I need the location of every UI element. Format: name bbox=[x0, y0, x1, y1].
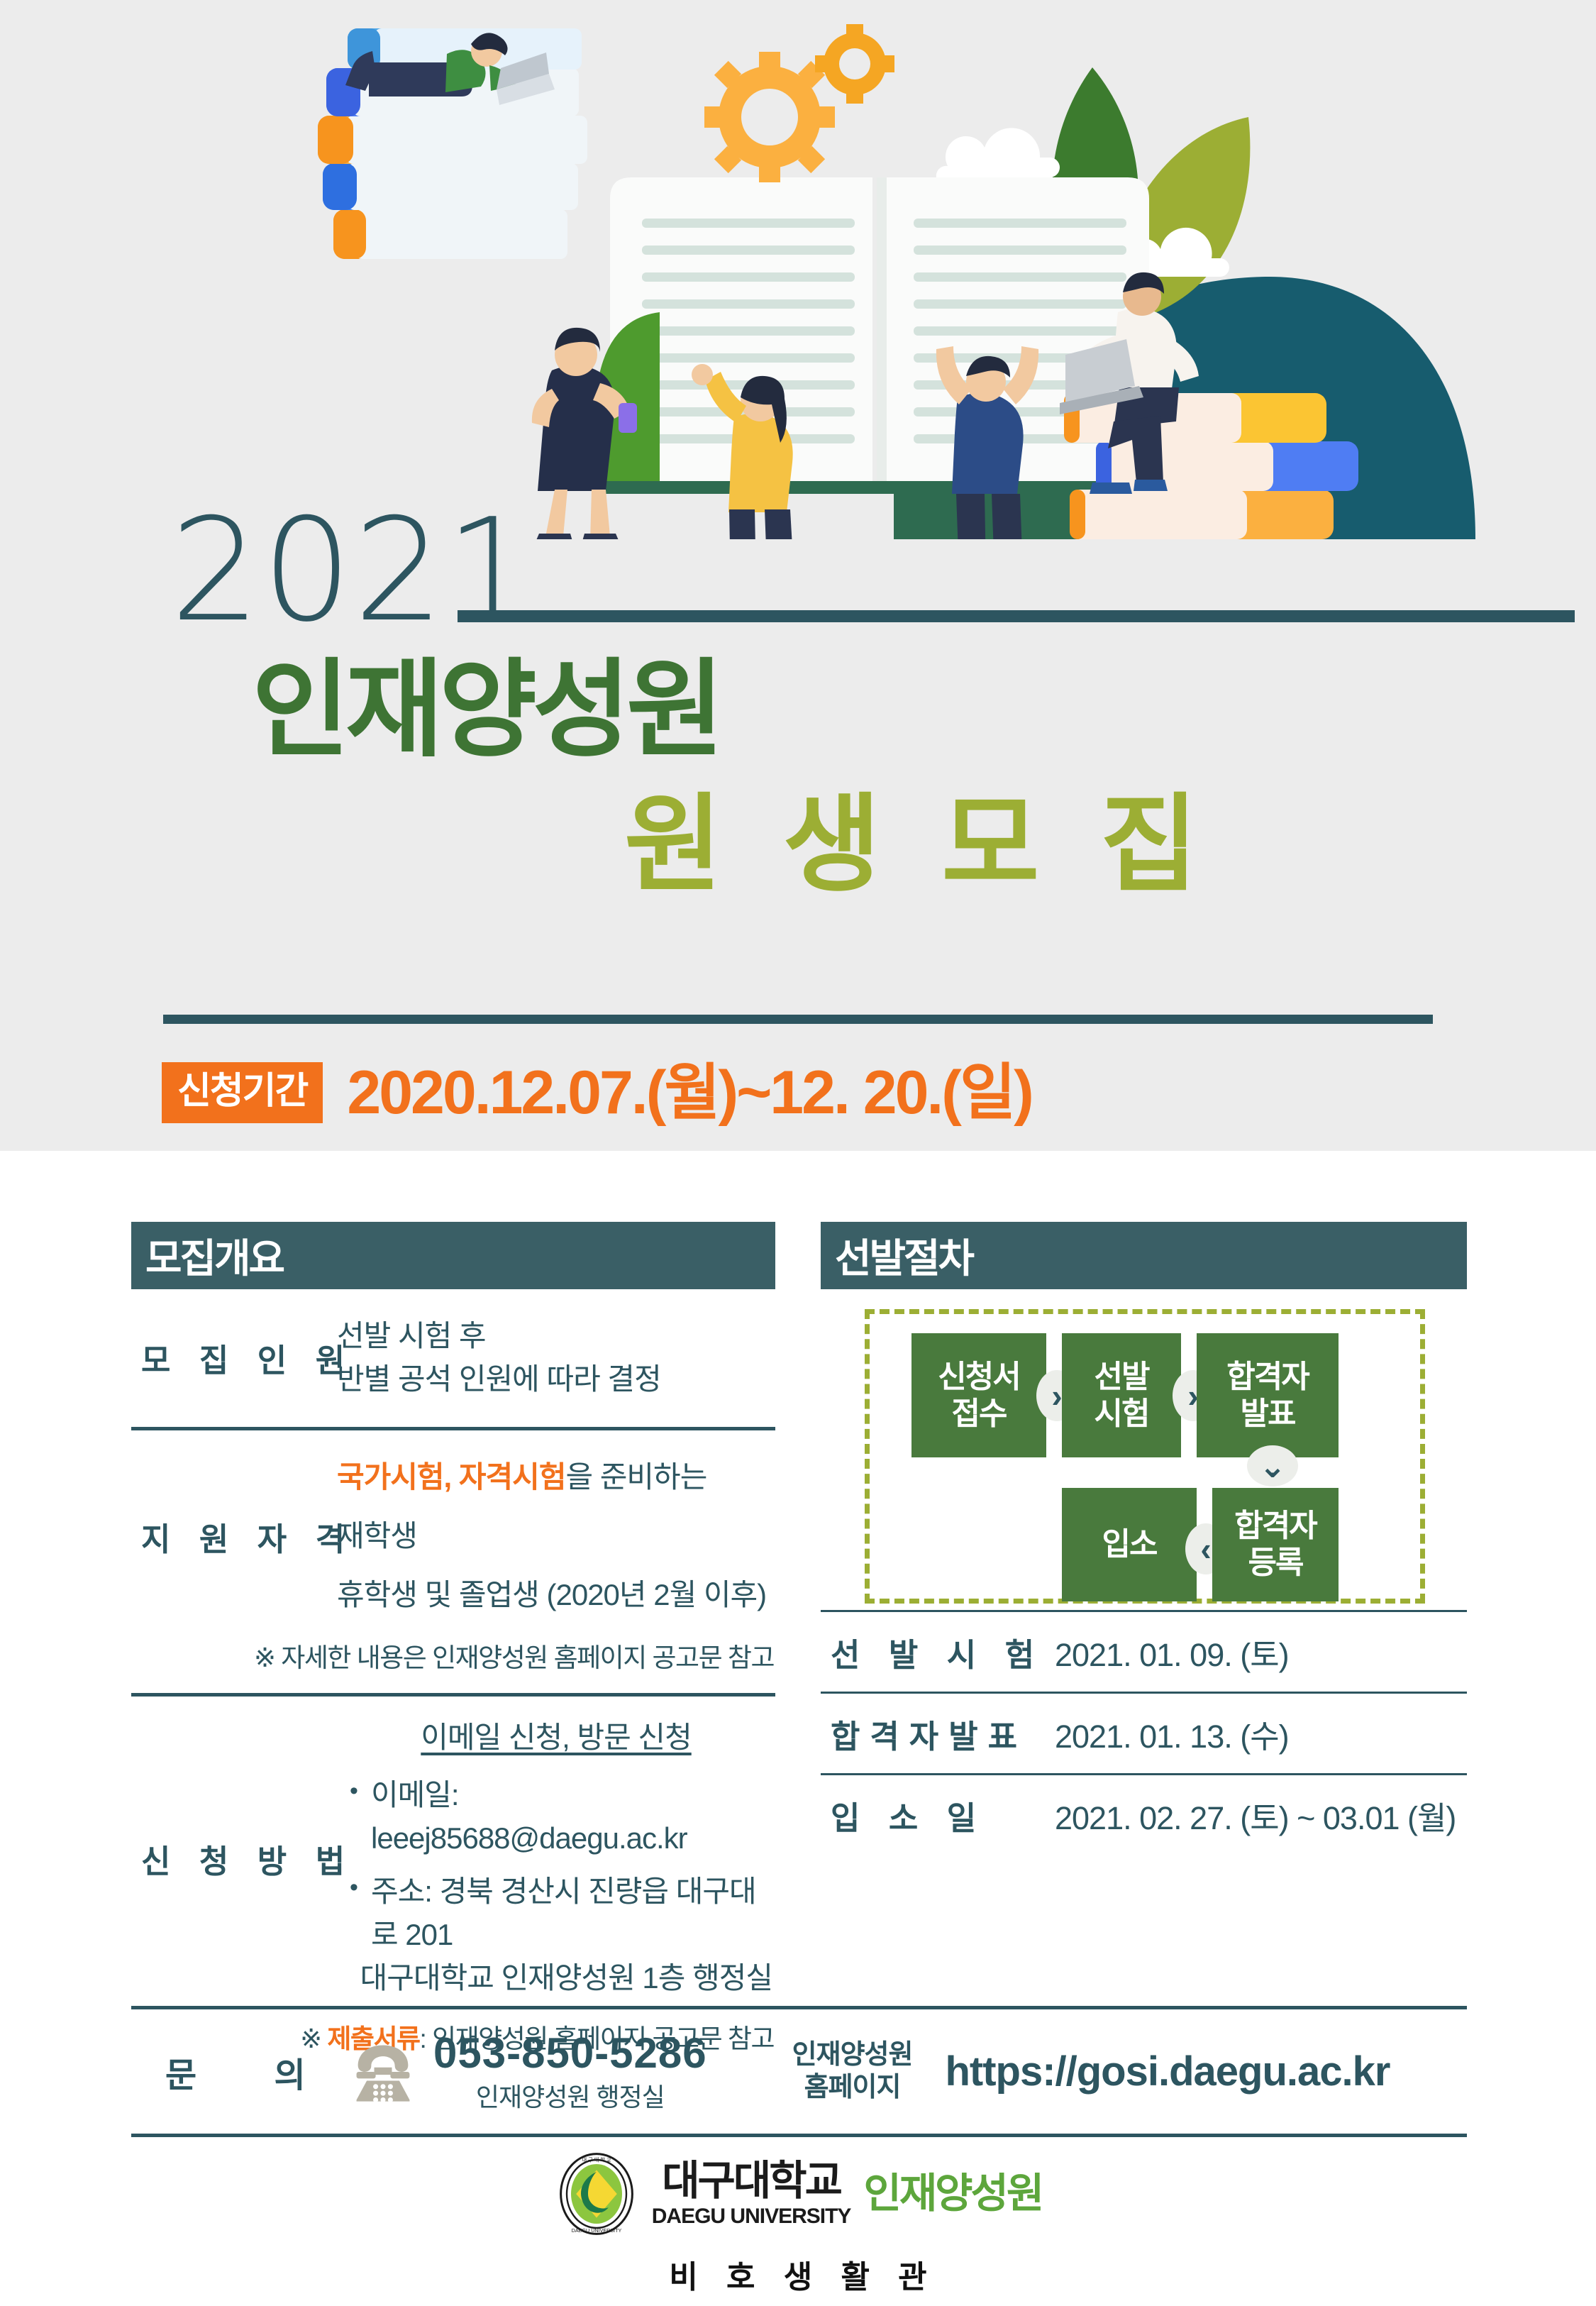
selection-process-panel: 선발절차 신청서 접수 › 선발 시험 › 합격자 발표 ⌄ 입소 ‹ 합격자 … bbox=[821, 1222, 1467, 1855]
eligibility-note: ※ 자세한 내용은 인재양성원 홈페이지 공고문 참고 bbox=[131, 1622, 775, 1693]
footer-logo-row: 대 구 대 학 교 DAEGU UNIVERSITY 대구대학교 DAEGU U… bbox=[554, 2151, 1043, 2236]
poster-title-line2: 원 생 모 집 bbox=[624, 791, 1214, 898]
eligibility-exam-types: 국가시험, 자격시험 bbox=[337, 1460, 565, 1494]
schedule-row-exam: 선 발 시 험 2021. 01. 09. (토) bbox=[821, 1612, 1467, 1692]
schedule-row-announcement: 합격자발표 2021. 01. 13. (수) bbox=[821, 1694, 1467, 1773]
apply-email-text: 이메일: leeej85688@daegu.ac.kr bbox=[371, 1774, 775, 1860]
eligibility-line-enrolled: 재학생 bbox=[337, 1515, 775, 1558]
row-how-to-apply: 신 청 방 법 이메일 신청, 방문 신청 • 이메일: leeej85688@… bbox=[131, 1697, 775, 2004]
flow-box-result-announcement: 합격자 발표 bbox=[1197, 1333, 1339, 1457]
flow-arrow-down-icon: ⌄ bbox=[1247, 1445, 1298, 1486]
apply-address-cont: 대구대학교 인재양성원 1층 행정실 bbox=[337, 1957, 775, 2000]
value-recruitment-count: 선발 시험 후 반별 공석 인원에 따라 결정 bbox=[337, 1315, 775, 1401]
homepage-label-line1: 인재양성원 bbox=[792, 2039, 913, 2072]
contact-section: 문 의 053-850-5286 인재양성원 행정실 bbox=[131, 2006, 1467, 2137]
eligibility-line-leave-grad: 휴학생 및 졸업생 (2020년 2월 이후) bbox=[337, 1574, 775, 1617]
footer-univ-kr: 대구대학교 bbox=[652, 2161, 851, 2202]
flow-box-application-receipt: 신청서 접수 bbox=[911, 1333, 1046, 1457]
flow-box-5-label: 합격자 등록 bbox=[1234, 1508, 1316, 1582]
year-heading-row: 2021 bbox=[170, 522, 1447, 642]
application-period-dates: 2020.12.07.(월)~12. 20.(일) bbox=[347, 1062, 1031, 1123]
flow-box-registration: 합격자 등록 bbox=[1212, 1488, 1339, 1601]
apply-methods-subtitle: 이메일 신청, 방문 신청 bbox=[337, 1716, 775, 1760]
selection-flowchart: 신청서 접수 › 선발 시험 › 합격자 발표 ⌄ 입소 ‹ 합격자 등록 bbox=[821, 1305, 1467, 1610]
footer-univ-block: 대구대학교 DAEGU UNIVERSITY bbox=[652, 2161, 851, 2227]
recruitment-count-line2: 반별 공석 인원에 따라 결정 bbox=[337, 1358, 775, 1401]
recruitment-overview-panel: 모집개요 모 집 인 원 선발 시험 후 반별 공석 인원에 따라 결정 지 원… bbox=[131, 1222, 775, 2074]
flow-box-1-label: 신청서 접수 bbox=[938, 1359, 1019, 1433]
schedule-row-admission: 입 소 일 2021. 02. 27. (토) ~ 03.01 (월) bbox=[821, 1775, 1467, 1855]
contact-phone-number: 053-850-5286 bbox=[433, 2029, 707, 2077]
footer-univ-en: DAEGU UNIVERSITY bbox=[652, 2206, 851, 2227]
application-period-badge: 신청기간 bbox=[162, 1062, 323, 1123]
eligibility-highlight-tail: 을 준비하는 bbox=[565, 1460, 706, 1494]
label-recruitment-count: 모 집 인 원 bbox=[131, 1335, 337, 1381]
hero-banner: 2021 인재양성원 원 생 모 집 신청기간 2020.12.07.(월)~1… bbox=[0, 0, 1596, 1151]
footer-building-name: 비 호 생 활 관 bbox=[0, 2251, 1596, 2297]
application-period-row: 신청기간 2020.12.07.(월)~12. 20.(일) bbox=[162, 1050, 1032, 1135]
contact-homepage-label: 인재양성원 홈페이지 bbox=[792, 2039, 913, 2104]
apply-address-text: 주소: 경북 경산시 진량읍 대구대로 201 bbox=[371, 1870, 775, 1957]
contact-phone-office: 인재양성원 행정실 bbox=[433, 2077, 707, 2114]
contact-row: 문 의 053-850-5286 인재양성원 행정실 bbox=[131, 2009, 1467, 2134]
contact-divider-bottom bbox=[131, 2134, 1467, 2137]
apply-bullet-address: • 주소: 경북 경산시 진량읍 대구대로 201 bbox=[337, 1870, 775, 1957]
bullet-dot-icon: • bbox=[350, 1774, 371, 1860]
schedule-value-admission: 2021. 02. 27. (토) ~ 03.01 (월) bbox=[1055, 1792, 1456, 1838]
contact-homepage-url[interactable]: https://gosi.daegu.ac.kr bbox=[945, 2048, 1390, 2095]
apply-bullet-email: • 이메일: leeej85688@daegu.ac.kr bbox=[337, 1774, 775, 1860]
year-rule bbox=[458, 610, 1575, 622]
contact-label: 문 의 bbox=[131, 2047, 344, 2097]
row-recruitment-count: 모 집 인 원 선발 시험 후 반별 공석 인원에 따라 결정 bbox=[131, 1289, 775, 1427]
value-eligibility: 국가시험, 자격시험을 준비하는 재학생 휴학생 및 졸업생 (2020년 2월… bbox=[337, 1456, 775, 1617]
poster-title-line1: 인재양성원 bbox=[252, 656, 720, 763]
schedule-value-announcement: 2021. 01. 13. (수) bbox=[1055, 1711, 1289, 1757]
daegu-university-seal-icon: 대 구 대 학 교 DAEGU UNIVERSITY bbox=[554, 2151, 639, 2236]
schedule-label-announcement: 합격자발표 bbox=[821, 1711, 1055, 1757]
eligibility-highlight-line: 국가시험, 자격시험을 준비하는 bbox=[337, 1456, 775, 1499]
bullet-dot-icon: • bbox=[350, 1870, 371, 1957]
recruitment-count-line1: 선발 시험 후 bbox=[337, 1315, 775, 1358]
contact-phone-block: 053-850-5286 인재양성원 행정실 bbox=[433, 2029, 707, 2114]
flow-box-selection-exam: 선발 시험 bbox=[1062, 1333, 1181, 1457]
row-eligibility: 지 원 자 격 국가시험, 자격시험을 준비하는 재학생 휴학생 및 졸업생 (… bbox=[131, 1430, 775, 1623]
footer: 대 구 대 학 교 DAEGU UNIVERSITY 대구대학교 DAEGU U… bbox=[0, 2151, 1596, 2297]
label-eligibility: 지 원 자 격 bbox=[131, 1513, 337, 1560]
svg-text:대 구 대 학 교: 대 구 대 학 교 bbox=[582, 2156, 611, 2163]
recruitment-overview-heading: 모집개요 bbox=[131, 1222, 775, 1289]
flow-box-admission: 입소 bbox=[1062, 1488, 1197, 1601]
selection-process-heading: 선발절차 bbox=[821, 1222, 1467, 1289]
content-area: 모집개요 모 집 인 원 선발 시험 후 반별 공석 인원에 따라 결정 지 원… bbox=[0, 1151, 1596, 2306]
flow-box-4-label: 입소 bbox=[1102, 1526, 1157, 1563]
flow-box-3-label: 합격자 발표 bbox=[1226, 1359, 1308, 1433]
schedule-label-exam: 선 발 시 험 bbox=[821, 1629, 1055, 1675]
svg-text:DAEGU UNIVERSITY: DAEGU UNIVERSITY bbox=[571, 2227, 621, 2234]
schedule-value-exam: 2021. 01. 09. (토) bbox=[1055, 1629, 1289, 1675]
schedule-label-admission: 입 소 일 bbox=[821, 1792, 1055, 1838]
flow-box-2-label: 선발 시험 bbox=[1095, 1359, 1149, 1433]
education-illustration bbox=[0, 0, 1596, 539]
label-how-to-apply: 신 청 방 법 bbox=[131, 1836, 337, 1882]
hero-divider-rule bbox=[163, 1015, 1433, 1024]
value-how-to-apply: 이메일 신청, 방문 신청 • 이메일: leeej85688@daegu.ac… bbox=[337, 1716, 775, 1999]
homepage-label-line2: 홈페이지 bbox=[792, 2072, 913, 2104]
telephone-icon bbox=[344, 2035, 422, 2109]
footer-institute: 인재양성원 bbox=[863, 2173, 1042, 2214]
